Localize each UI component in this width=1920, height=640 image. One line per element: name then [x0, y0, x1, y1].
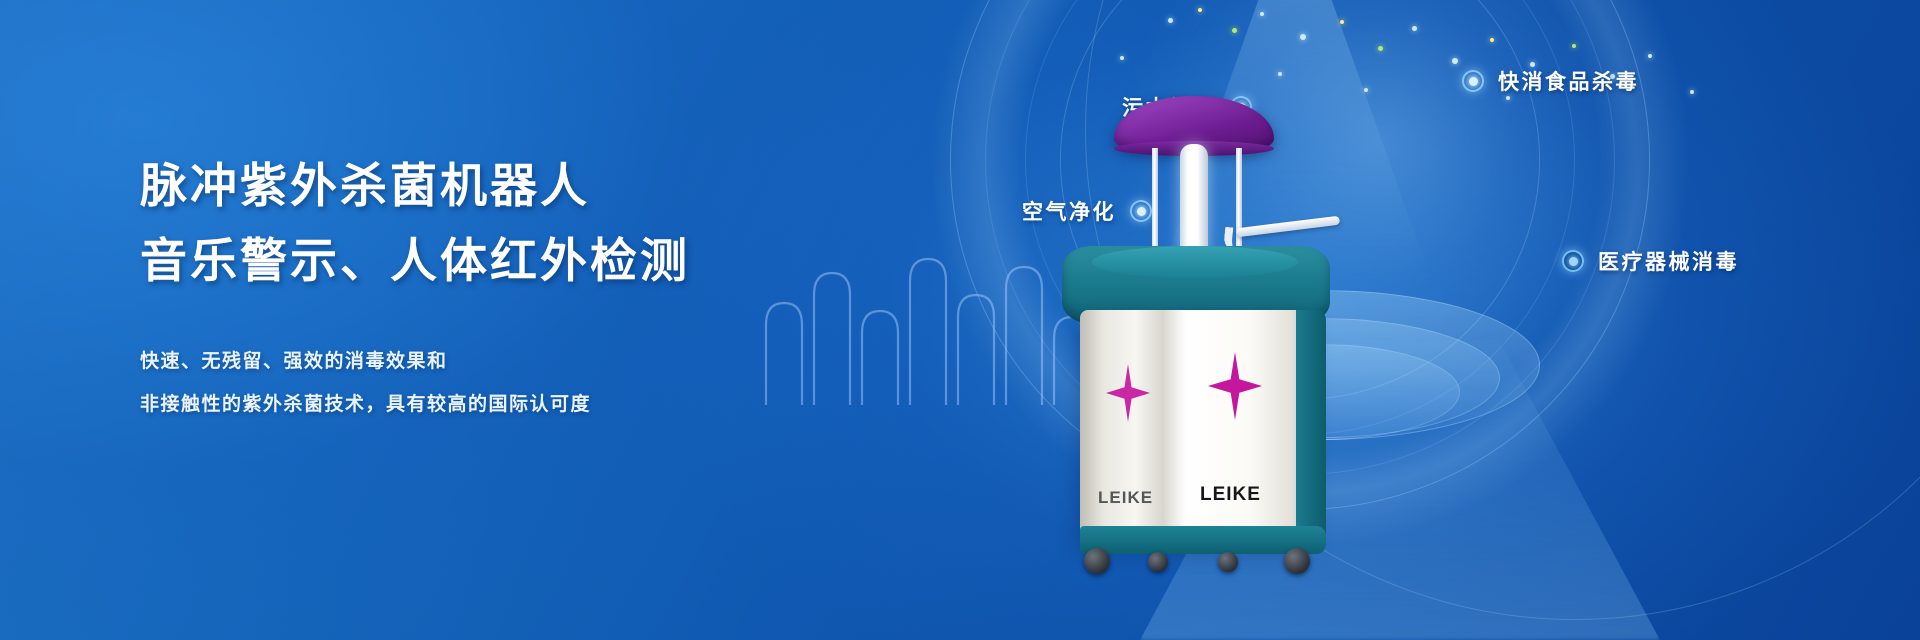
uv-robot-illustration: LEIKE LEIKE — [1040, 96, 1400, 516]
caster-wheel-icon — [1084, 548, 1110, 574]
particle-dot — [1120, 56, 1124, 60]
brand-logo-left: LEIKE — [1098, 488, 1153, 508]
hero-banner: 脉冲紫外杀菌机器人 音乐警示、人体红外检测 快速、无残留、强效的消毒效果和 非接… — [0, 0, 1920, 640]
callout-food-sterilize[interactable]: 快消食品杀毒 — [1462, 66, 1639, 96]
particle-dot — [1232, 28, 1237, 33]
particle-dot — [1300, 34, 1306, 40]
caster-wheel-icon — [1284, 548, 1310, 574]
subtext-line-1: 快速、无残留、强效的消毒效果和 — [140, 340, 900, 383]
push-handle — [1236, 216, 1340, 238]
particle-dot — [1260, 12, 1264, 16]
hero-subcopy: 快速、无残留、强效的消毒效果和 非接触性的紫外杀菌技术，具有较高的国际认可度 — [140, 340, 900, 426]
particle-dot — [1506, 96, 1510, 100]
caster-wheel-icon — [1148, 552, 1168, 572]
node-marker-icon — [1562, 250, 1584, 272]
page-title-line2: 音乐警示、人体红外检测 — [140, 225, 900, 300]
page-title-line1: 脉冲紫外杀菌机器人 — [140, 150, 900, 225]
caster-wheel-icon — [1218, 552, 1238, 572]
particle-dot — [1648, 54, 1652, 58]
uv-lamp-tube-icon — [1180, 144, 1208, 254]
particle-dot — [1198, 8, 1202, 12]
brand-logo-right: LEIKE — [1200, 484, 1261, 506]
lamp-support-rod — [1152, 148, 1158, 252]
callout-medical-disinfection[interactable]: 医疗器械消毒 — [1562, 246, 1739, 276]
particle-dot — [1340, 20, 1344, 24]
node-marker-icon — [1462, 70, 1484, 92]
device-body-side — [1296, 310, 1326, 540]
particle-dot — [1378, 46, 1383, 51]
particle-dot — [1278, 72, 1282, 76]
particle-dot — [1452, 58, 1458, 64]
hero-copy: 脉冲紫外杀菌机器人 音乐警示、人体红外检测 快速、无残留、强效的消毒效果和 非接… — [140, 150, 900, 426]
particle-dot — [1490, 38, 1494, 42]
particle-dot — [1690, 90, 1694, 94]
particle-dot — [1412, 26, 1417, 31]
particle-dot — [1168, 18, 1173, 23]
device-top-face — [1092, 246, 1298, 278]
subtext-line-2: 非接触性的紫外杀菌技术，具有较高的国际认可度 — [140, 383, 900, 426]
particle-dot — [1572, 44, 1576, 48]
callout-label: 快消食品杀毒 — [1498, 66, 1639, 96]
callout-label: 医疗器械消毒 — [1598, 246, 1739, 276]
particle-dot — [1364, 88, 1368, 92]
